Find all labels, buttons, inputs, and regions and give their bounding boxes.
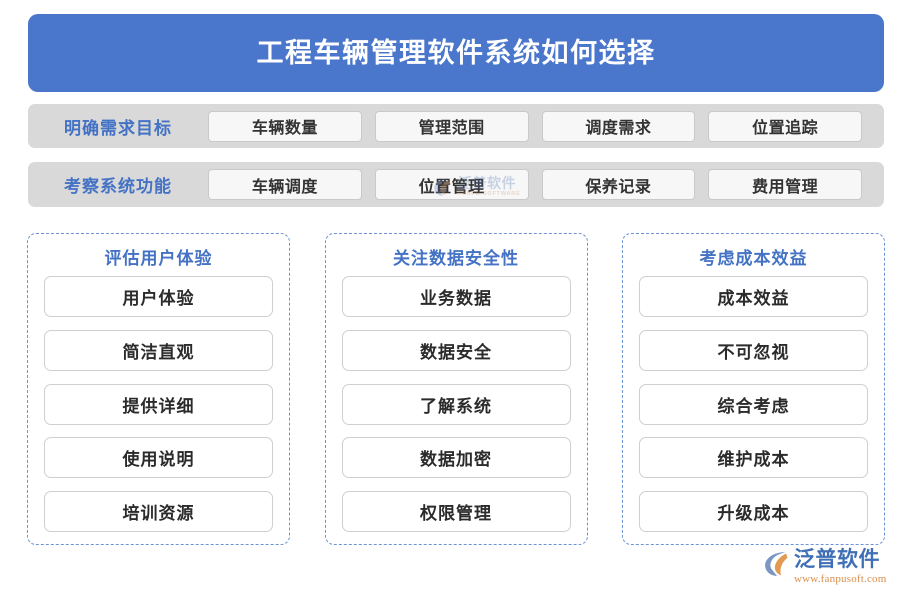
chip-cost-management[interactable]: 费用管理 bbox=[708, 169, 862, 200]
requirement-row-2: 考察系统功能 车辆调度 位置管理 保养记录 费用管理 bbox=[28, 162, 884, 207]
list-item[interactable]: 综合考虑 bbox=[639, 384, 868, 425]
brand-url: www.fanpusoft.com bbox=[794, 574, 887, 585]
chip-maintenance-record[interactable]: 保养记录 bbox=[542, 169, 696, 200]
chip-location-tracking[interactable]: 位置追踪 bbox=[708, 111, 862, 142]
list-item[interactable]: 用户体验 bbox=[44, 276, 273, 317]
chip-vehicle-dispatch[interactable]: 车辆调度 bbox=[208, 169, 362, 200]
column-items-user-experience: 用户体验 简洁直观 提供详细 使用说明 培训资源 bbox=[44, 274, 273, 532]
title-banner: 工程车辆管理软件系统如何选择 bbox=[28, 14, 884, 92]
column-data-security: 关注数据安全性 业务数据 数据安全 了解系统 数据加密 权限管理 bbox=[325, 233, 588, 545]
chip-management-scope[interactable]: 管理范围 bbox=[375, 111, 529, 142]
list-item[interactable]: 维护成本 bbox=[639, 437, 868, 478]
column-cost-benefit: 考虑成本效益 成本效益 不可忽视 综合考虑 维护成本 升级成本 bbox=[622, 233, 885, 545]
fanpu-logo-icon bbox=[762, 550, 792, 578]
column-items-cost-benefit: 成本效益 不可忽视 综合考虑 维护成本 升级成本 bbox=[639, 274, 868, 532]
column-header-user-experience: 评估用户体验 bbox=[105, 243, 213, 274]
row-label-system-functions: 考察系统功能 bbox=[28, 172, 208, 197]
list-item[interactable]: 了解系统 bbox=[342, 384, 571, 425]
row-label-requirements: 明确需求目标 bbox=[28, 114, 208, 139]
list-item[interactable]: 升级成本 bbox=[639, 491, 868, 532]
chip-location-management[interactable]: 位置管理 bbox=[375, 169, 529, 200]
list-item[interactable]: 不可忽视 bbox=[639, 330, 868, 371]
criteria-columns: 评估用户体验 用户体验 简洁直观 提供详细 使用说明 培训资源 关注数据安全性 … bbox=[27, 233, 885, 545]
list-item[interactable]: 简洁直观 bbox=[44, 330, 273, 371]
list-item[interactable]: 使用说明 bbox=[44, 437, 273, 478]
list-item[interactable]: 提供详细 bbox=[44, 384, 273, 425]
requirement-row-1: 明确需求目标 车辆数量 管理范围 调度需求 位置追踪 bbox=[28, 104, 884, 148]
column-header-cost-benefit: 考虑成本效益 bbox=[700, 243, 808, 274]
chip-dispatch-demand[interactable]: 调度需求 bbox=[542, 111, 696, 142]
list-item[interactable]: 培训资源 bbox=[44, 491, 273, 532]
brand-text: 泛普软件 www.fanpusoft.com bbox=[794, 549, 887, 585]
list-item[interactable]: 业务数据 bbox=[342, 276, 571, 317]
chip-vehicle-count[interactable]: 车辆数量 bbox=[208, 111, 362, 142]
list-item[interactable]: 数据加密 bbox=[342, 437, 571, 478]
list-item[interactable]: 数据安全 bbox=[342, 330, 571, 371]
list-item[interactable]: 成本效益 bbox=[639, 276, 868, 317]
brand-name: 泛普软件 bbox=[794, 549, 887, 570]
column-header-data-security: 关注数据安全性 bbox=[393, 243, 519, 274]
list-item[interactable]: 权限管理 bbox=[342, 491, 571, 532]
brand-logo: 泛普软件 www.fanpusoft.com bbox=[762, 549, 888, 591]
column-items-data-security: 业务数据 数据安全 了解系统 数据加密 权限管理 bbox=[342, 274, 571, 532]
infographic-page: 工程车辆管理软件系统如何选择 明确需求目标 车辆数量 管理范围 调度需求 位置追… bbox=[0, 0, 900, 600]
page-title: 工程车辆管理软件系统如何选择 bbox=[257, 40, 656, 67]
chip-group-system-functions: 车辆调度 位置管理 保养记录 费用管理 bbox=[208, 169, 884, 200]
chip-group-requirements: 车辆数量 管理范围 调度需求 位置追踪 bbox=[208, 111, 884, 142]
column-user-experience: 评估用户体验 用户体验 简洁直观 提供详细 使用说明 培训资源 bbox=[27, 233, 290, 545]
